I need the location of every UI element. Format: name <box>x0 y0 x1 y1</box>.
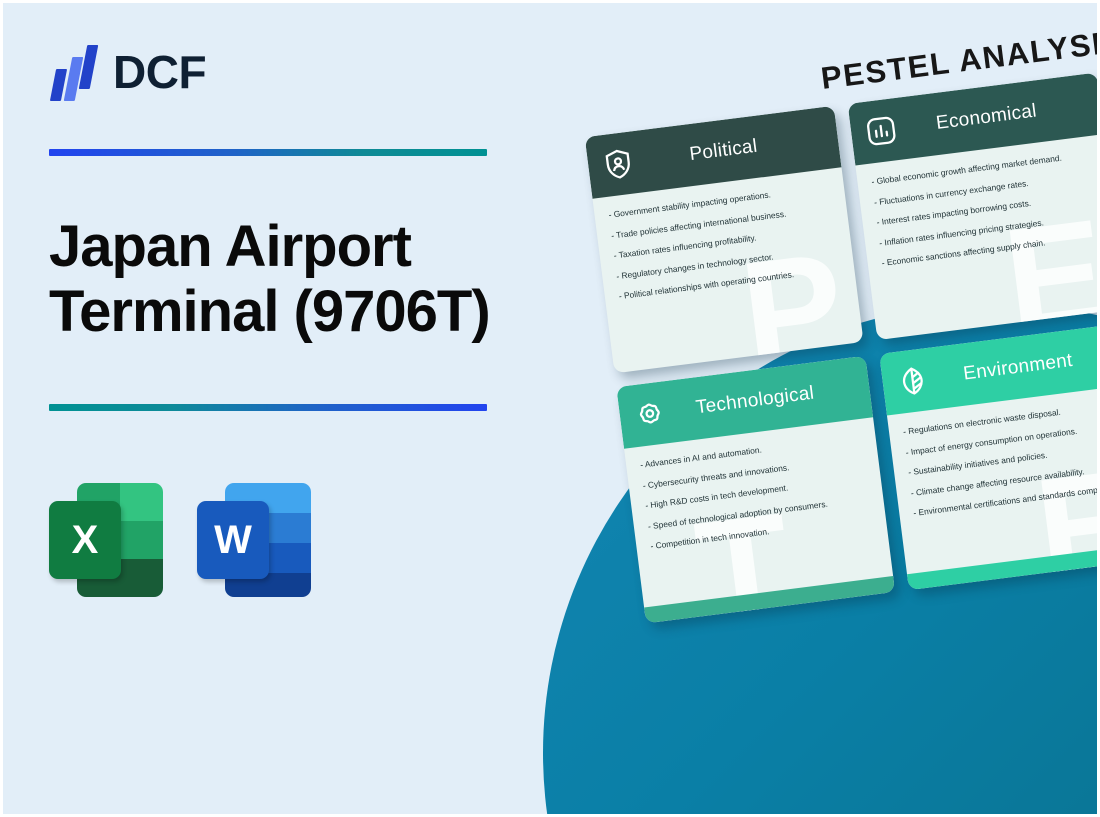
pestel-card-technological[interactable]: Technological T Advances in AI and autom… <box>616 356 895 624</box>
brand-logo[interactable]: DCF <box>49 33 519 111</box>
card-title: Environment <box>928 342 1100 389</box>
divider-bottom <box>49 404 487 411</box>
pestel-panel: PESTEL ANALYSIS Political P Gov <box>524 14 1100 679</box>
excel-letter-badge: X <box>49 501 121 579</box>
card-title: Technological <box>665 376 870 423</box>
pestel-card-political[interactable]: Political P Government stability impacti… <box>585 106 864 374</box>
leaf-icon <box>894 362 932 400</box>
card-title: Economical <box>897 92 1100 139</box>
download-icons: X W <box>49 481 519 599</box>
page-title: Japan Airport Terminal (9706T) <box>49 215 519 345</box>
excel-file-icon[interactable]: X <box>49 481 163 599</box>
page-root: DCF Japan Airport Terminal (9706T) X <box>0 0 1100 817</box>
pestel-card-grid: Political P Government stability impacti… <box>585 73 1100 624</box>
dcf-bars-logo-icon <box>49 43 103 101</box>
brand-name: DCF <box>113 49 206 95</box>
word-file-icon[interactable]: W <box>197 481 311 599</box>
card-title: Political <box>634 126 839 173</box>
pestel-card-environment[interactable]: Environment E Regulations on electronic … <box>879 323 1100 591</box>
word-letter-badge: W <box>197 501 269 579</box>
shield-person-icon <box>599 145 637 183</box>
bar-chart-icon <box>862 112 900 150</box>
divider-top <box>49 149 487 156</box>
left-column: DCF Japan Airport Terminal (9706T) X <box>49 33 519 599</box>
page-title-wrap: Japan Airport Terminal (9706T) <box>49 156 519 404</box>
pestel-card-economical[interactable]: Economical E Global economic growth affe… <box>848 73 1100 341</box>
gear-icon <box>631 395 669 433</box>
